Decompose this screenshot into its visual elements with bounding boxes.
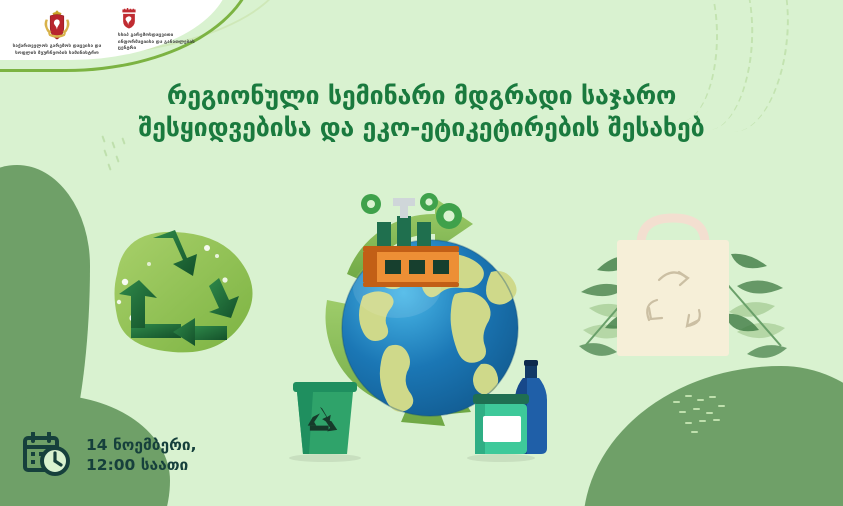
title-line-2: შესყიდვებისა და ეკო-ეტიკეტირების შესახებ (80, 112, 763, 144)
recycling-triangle-illustration (95, 222, 270, 372)
decorative-blob-bottom-right (583, 366, 843, 506)
eco-tote-bag-illustration (575, 196, 790, 368)
poster-canvas: საქართველოს გარემოს დაცვისა და სოფლის მე… (0, 0, 843, 506)
event-datetime-row: 14 ნოემბერი, 12:00 საათი (22, 432, 197, 478)
logo-center-text: სსიპ გარემოსდაცვითი ინფორმაციისა და განა… (118, 33, 210, 53)
leaves-right (725, 254, 787, 358)
tote-bag-body (617, 240, 729, 356)
page-title: რეგიონული სემინარი მდგრადი საჯარო შესყიდ… (0, 80, 843, 144)
red-shield-emblem-icon (120, 8, 138, 30)
logo-ministry: საქართველოს გარემოს დაცვისა და სოფლის მე… (10, 8, 104, 57)
title-line-1: რეგიონული სემინარი მდგრადი საჯარო (80, 80, 763, 112)
globe-recycling-cycle-illustration (285, 176, 575, 466)
georgian-coat-of-arms-icon (40, 8, 74, 42)
logo-environmental-center: სსიპ გარემოსდაცვითი ინფორმაციისა და განა… (118, 8, 210, 53)
logo-row: საქართველოს გარემოს დაცვისა და სოფლის მე… (10, 8, 210, 57)
dash-cluster-left (100, 138, 140, 178)
recycle-bin-icon (289, 382, 361, 462)
calendar-clock-icon (22, 432, 74, 478)
event-datetime-text: 14 ნოემბერი, 12:00 საათი (86, 435, 197, 476)
dash-cluster-right (673, 395, 733, 440)
logo-ministry-text: საქართველოს გარემოს დაცვისა და სოფლის მე… (10, 44, 104, 57)
